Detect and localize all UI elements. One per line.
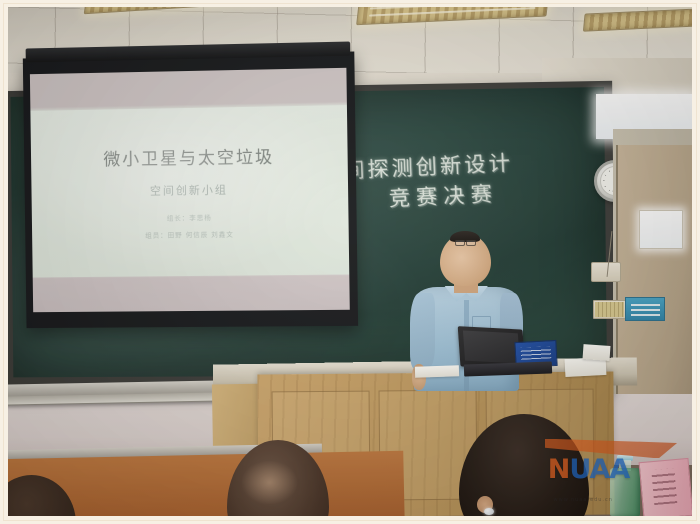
presentation-slide: 微小卫星与太空垃圾 空间创新小组 组长：李思杨 组员：田野 何信辰 刘鑫文 bbox=[31, 106, 350, 278]
slide-leader-line: 组长：李思杨 bbox=[32, 211, 349, 225]
presenter-head bbox=[440, 234, 491, 286]
desk-paper bbox=[582, 345, 610, 362]
bottle-body bbox=[610, 468, 640, 516]
slide-subtitle: 空间创新小组 bbox=[32, 180, 349, 200]
slide-title: 微小卫星与太空垃圾 bbox=[31, 141, 348, 171]
glasses-icon bbox=[455, 240, 476, 243]
blackboard-chalk-line-2: 竞赛决赛 bbox=[388, 177, 498, 212]
projection-screen: 微小卫星与太空垃圾 空间创新小组 组长：李思杨 组员：田野 何信辰 刘鑫文 bbox=[23, 52, 358, 329]
screen-surface: 微小卫星与太空垃圾 空间创新小组 组长：李思杨 组员：田野 何信辰 刘鑫文 bbox=[30, 68, 350, 312]
door-frame bbox=[613, 129, 692, 394]
desk-paper bbox=[415, 365, 460, 378]
photo-border-frame: 空间探测创新设计 竞赛决赛 微小卫星与太空垃圾 空间创新小组 组长：李思杨 组员… bbox=[0, 0, 700, 524]
light-switch-plate[interactable] bbox=[593, 300, 626, 319]
pink-placard bbox=[638, 458, 692, 516]
laptop[interactable] bbox=[459, 328, 555, 374]
presenter-left-arm bbox=[410, 293, 434, 369]
blue-wall-sign bbox=[625, 297, 665, 320]
door-window bbox=[639, 210, 683, 249]
slide-members-line: 组员：田野 何信辰 刘鑫文 bbox=[32, 228, 349, 242]
light-tube bbox=[369, 7, 535, 16]
water-bottle bbox=[610, 455, 640, 516]
photograph: 空间探测创新设计 竞赛决赛 微小卫星与太空垃圾 空间创新小组 组长：李思杨 组员… bbox=[8, 7, 692, 516]
